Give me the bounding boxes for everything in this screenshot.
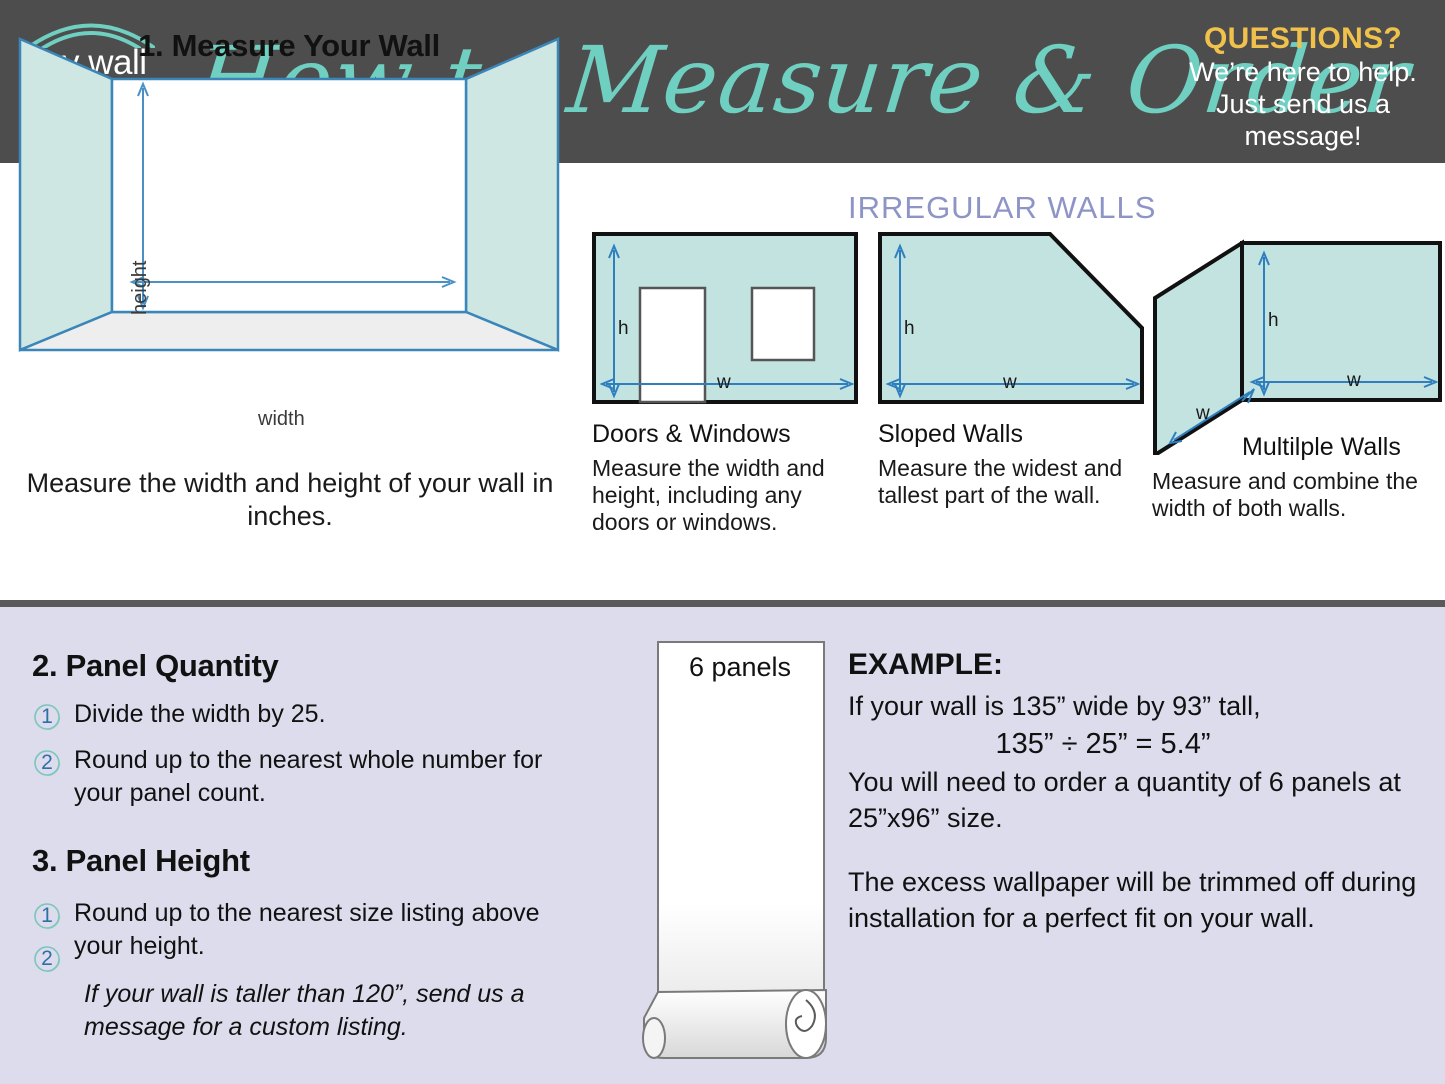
wallpaper-roll-illustration <box>630 638 850 1068</box>
step3-item-1: 1 Round up to the nearest size listing a… <box>30 897 570 963</box>
number-marker-icon: 2 <box>30 746 64 780</box>
example-title: EXAMPLE: <box>848 648 1428 682</box>
step2-item-2-number: 2 <box>30 746 64 780</box>
step1-caption: Measure the width and height of your wal… <box>10 467 570 533</box>
irregular-card-title-0: Doors & Windows <box>592 419 860 449</box>
step2-item-1-text: Divide the width by 25. <box>74 698 326 731</box>
step2-item-2: 2 Round up to the nearest whole number f… <box>30 744 550 810</box>
step2-item-1: 1 Divide the width by 25. <box>30 698 560 734</box>
irregular-card-multiple: h w w Multilple Walls Measure and combin… <box>1152 225 1442 522</box>
width-dimension-label: width <box>258 408 305 431</box>
irregular-card-desc-2: Measure and combine the width of both wa… <box>1152 468 1442 522</box>
step3-title: 3. Panel Height <box>32 843 250 879</box>
w-label-multiple-2: w <box>1196 403 1210 425</box>
step2-item-1-number: 1 <box>30 700 64 734</box>
step2-item-2-text: Round up to the nearest whole number for… <box>74 744 550 810</box>
irregular-card-desc-0: Measure the width and height, including … <box>592 455 860 536</box>
step1-title: 1. Measure Your Wall <box>18 28 560 64</box>
irregular-card-desc-1: Measure the widest and tallest part of t… <box>878 455 1143 509</box>
w-label-doors: w <box>717 372 731 394</box>
h-label-multiple: h <box>1268 310 1279 332</box>
section-divider <box>0 600 1445 607</box>
number-marker-icon: 1 <box>30 899 64 933</box>
step2-title: 2. Panel Quantity <box>32 648 278 684</box>
example-line1: If your wall is 135” wide by 93” tall, <box>848 688 1428 724</box>
questions-body: We’re here to help. Just send us a messa… <box>1177 56 1429 152</box>
irregular-walls-heading: IRREGULAR WALLS <box>848 190 1156 226</box>
example-line2: You will need to order a quantity of 6 p… <box>848 764 1428 836</box>
number-marker-icon: 1 <box>30 700 64 734</box>
irregular-card-doors-windows: h w Doors & Windows Measure the width an… <box>592 232 860 536</box>
irregular-card-title-1: Sloped Walls <box>878 419 1143 449</box>
example-spacer <box>848 836 1428 864</box>
number-marker-icon: 2 <box>30 942 64 976</box>
irregular-card-sloped: h w Sloped Walls Measure the widest and … <box>878 232 1143 509</box>
h-label-doors: h <box>618 318 629 340</box>
step3-note: If your wall is taller than 120”, send u… <box>84 978 554 1044</box>
step3-item-1-text: Round up to the nearest size listing abo… <box>74 897 570 963</box>
step3-item-2-number: 2 <box>30 942 64 976</box>
room-diagram <box>18 22 560 367</box>
example-line3: The excess wallpaper will be trimmed off… <box>848 864 1428 936</box>
example-block: EXAMPLE: If your wall is 135” wide by 93… <box>848 648 1428 936</box>
questions-heading: QUESTIONS? <box>1177 22 1429 56</box>
w-label-multiple: w <box>1347 370 1361 392</box>
w-label-sloped: w <box>1003 372 1017 394</box>
height-dimension-label: height <box>129 261 152 316</box>
questions-block: QUESTIONS? We’re here to help. Just send… <box>1177 22 1429 152</box>
step3-item-2: 2 <box>30 940 64 976</box>
roll-label: 6 panels <box>655 652 825 683</box>
example-equation: 135” ÷ 25” = 5.4” <box>848 724 1428 764</box>
step3-item-1-number: 1 <box>30 899 64 933</box>
h-label-sloped: h <box>904 318 915 340</box>
